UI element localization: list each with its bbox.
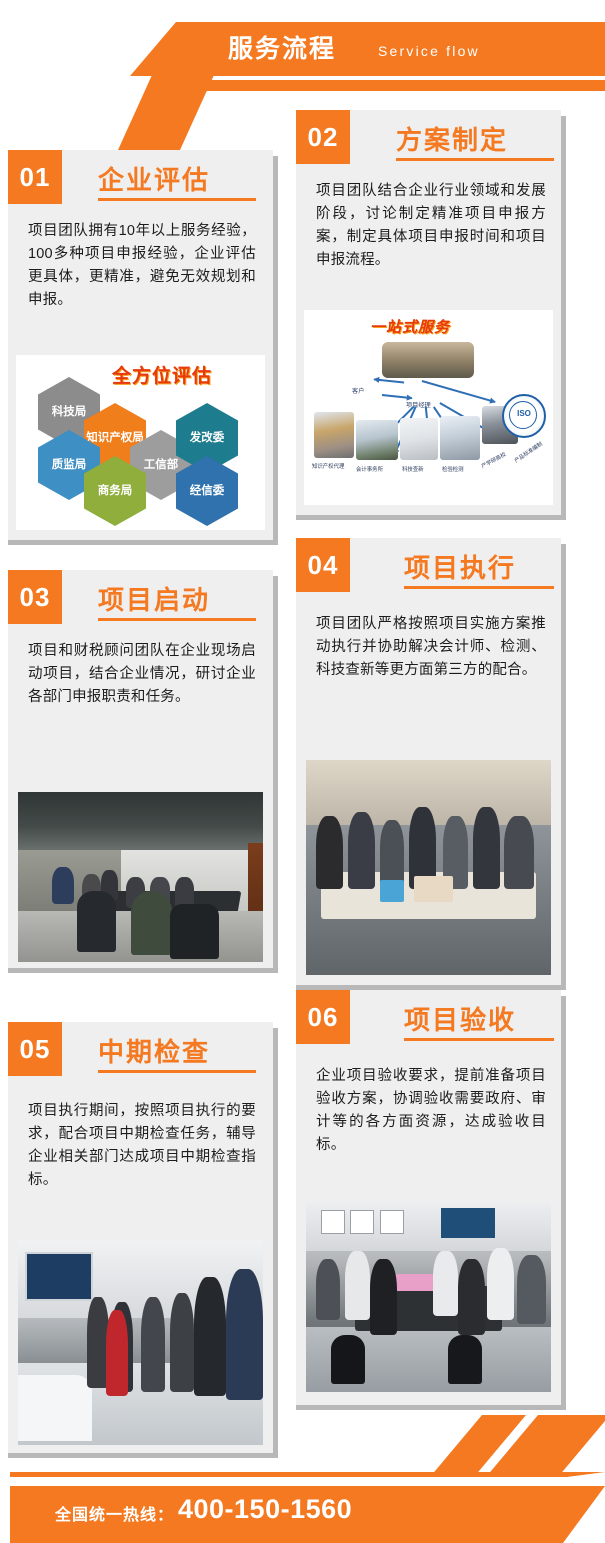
card-06-title-rule — [404, 1038, 554, 1041]
card-04-body: 项目团队严格按照项目实施方案推动执行并协助解决会计师、检测、科技查新等更方面第三… — [316, 613, 546, 682]
photo-frame — [380, 1210, 404, 1235]
photo-person — [345, 1251, 370, 1319]
card-01-title: 企业评估 — [98, 160, 210, 197]
onestop-title: 一站式服务 — [370, 316, 450, 337]
hex-node-label: 商务局 — [98, 485, 133, 498]
card-06-badge: 06 — [296, 990, 350, 1044]
photo-person — [226, 1269, 263, 1400]
photo-projector-screen — [441, 1208, 495, 1238]
photo-documents — [414, 876, 453, 902]
photo-person — [170, 1293, 195, 1391]
photo-chair — [448, 1335, 482, 1384]
onestop-node-2-image — [356, 420, 398, 460]
card-06-title: 项目验收 — [404, 1000, 516, 1037]
card-02-onestop-diagram: 一站式服务 客户 项目经理 ISO 知识产权代理 会计事务所 科技查新 检验检测… — [304, 310, 553, 505]
photo-display-screen — [25, 1252, 93, 1301]
onestop-node-label-3: 科技查新 — [402, 465, 424, 473]
photo-person — [52, 867, 74, 904]
card-03-badge: 03 — [8, 570, 62, 624]
photo-person — [487, 1248, 514, 1320]
onestop-arrow-1 — [374, 379, 404, 384]
page-footer: 全国统一热线： 400-150-1560 — [0, 1428, 605, 1538]
photo-person — [458, 1259, 485, 1335]
onestop-node-label-2: 会计事务所 — [356, 465, 383, 473]
card-01-title-rule — [98, 198, 256, 201]
card-06-body: 企业项目验收要求，提前准备项目验收方案，协调验收需要政府、审计等的各方面资源，达… — [316, 1065, 546, 1157]
photo-person — [504, 816, 533, 889]
hex-node-label: 发改委 — [190, 432, 225, 445]
card-02[interactable]: 02 方案制定 项目团队结合企业行业领域和发展阶段，讨论制定精准项目申报方案，制… — [296, 110, 561, 515]
card-04-photo — [306, 760, 551, 975]
onestop-label-customer: 客户 — [352, 386, 364, 395]
photo-person — [175, 877, 195, 908]
hex-node-label: 质监局 — [52, 459, 87, 472]
card-05[interactable]: 05 中期检查 项目执行期间，按照项目执行的要求，配合项目中期检查任务，辅导企业… — [8, 1022, 273, 1453]
photo-person — [348, 812, 375, 889]
onestop-iso-seal: ISO — [502, 394, 546, 438]
card-06[interactable]: 06 项目验收 企业项目验收要求，提前准备项目验收方案，协调验收需要政府、审计等… — [296, 990, 561, 1405]
card-05-title: 中期检查 — [98, 1032, 210, 1069]
onestop-arrow-3 — [422, 380, 495, 402]
photo-person-foreground — [131, 891, 173, 956]
card-04-badge: 04 — [296, 538, 350, 592]
hotline-label: 全国统一热线： — [55, 1501, 174, 1525]
card-01[interactable]: 01 企业评估 项目团队拥有10年以上服务经验，100多种项目申报经验，企业评估… — [8, 150, 273, 540]
card-04-title: 项目执行 — [404, 548, 516, 585]
hex-node-label: 知识产权局 — [86, 432, 144, 445]
card-05-body: 项目执行期间，按照项目执行的要求，配合项目中期检查任务，辅导企业相关部门达成项目… — [28, 1100, 256, 1192]
photo-chair — [170, 904, 219, 958]
photo-person — [316, 1259, 341, 1320]
onestop-hub-photo — [382, 342, 474, 378]
photo-person — [517, 1255, 546, 1323]
photo-person — [370, 1259, 397, 1335]
photo-frame — [350, 1210, 374, 1235]
card-04[interactable]: 04 项目执行 项目团队严格按照项目实施方案推动执行并协助解决会计师、检测、科技… — [296, 538, 561, 985]
card-02-title: 方案制定 — [396, 120, 508, 157]
onestop-arrow-2 — [382, 394, 412, 399]
card-03-title: 项目启动 — [98, 580, 210, 617]
onestop-node-3-image — [400, 418, 438, 460]
iso-seal-text: ISO — [504, 409, 544, 418]
photo-person — [194, 1277, 226, 1396]
onestop-label-manager: 项目经理 — [406, 400, 431, 409]
hotline-phone[interactable]: 400-150-1560 — [178, 1494, 352, 1525]
photo-chair — [331, 1335, 365, 1384]
onestop-node-label-6: 产品标准编制 — [513, 440, 544, 465]
photo-person-red-coat — [106, 1310, 128, 1396]
card-05-photo — [18, 1240, 263, 1445]
photo-frame — [321, 1210, 345, 1235]
card-04-title-rule — [404, 586, 554, 589]
card-03-title-rule — [98, 618, 256, 621]
photo-bottle — [380, 880, 405, 902]
onestop-node-label-1: 知识产权代理 — [312, 462, 344, 470]
photo-person — [473, 807, 500, 889]
photo-person — [433, 1251, 458, 1316]
hex-node-label: 经信委 — [190, 485, 225, 498]
card-03-body: 项目和财税顾问团队在企业现场启动项目，结合企业情况，研讨企业各部门申报职责和任务… — [28, 640, 256, 709]
card-01-badge: 01 — [8, 150, 62, 204]
header-banner — [130, 22, 605, 76]
photo-ceiling — [18, 792, 263, 850]
page-subtitle: Service flow — [378, 38, 480, 64]
card-05-title-rule — [98, 1070, 256, 1073]
card-05-badge: 05 — [8, 1022, 62, 1076]
footer-stripe — [10, 1472, 605, 1477]
onestop-node-4-image — [440, 416, 480, 460]
photo-person — [316, 816, 343, 889]
card-01-hex-diagram: 全方位评估 科技局 知识产权局 质监局 工信部 商务局 发改委 经信委 — [16, 355, 265, 530]
hex-node-label: 科技局 — [52, 406, 87, 419]
hex-node-label: 工信部 — [144, 459, 179, 472]
card-03[interactable]: 03 项目启动 项目和财税顾问团队在企业现场启动项目，结合企业情况，研讨企业各部… — [8, 570, 273, 968]
onestop-node-label-5: 产学研高校 — [480, 450, 508, 470]
card-03-photo — [18, 792, 263, 962]
card-01-body: 项目团队拥有10年以上服务经验，100多种项目申报经验，企业评估更具体，更精准，… — [28, 220, 256, 312]
hex-diagram-title: 全方位评估 — [112, 361, 212, 388]
card-02-badge: 02 — [296, 110, 350, 164]
photo-person — [380, 820, 405, 889]
onestop-node-label-4: 检验检测 — [442, 465, 464, 473]
page-title: 服务流程 — [228, 30, 336, 68]
onestop-node-1-image — [314, 412, 354, 458]
photo-chair — [77, 891, 116, 952]
card-02-body: 项目团队结合企业行业领域和发展阶段，讨论制定精准项目申报方案，制定具体项目申报时… — [316, 180, 546, 272]
card-06-photo — [306, 1202, 551, 1392]
photo-person — [141, 1297, 166, 1391]
card-02-title-rule — [396, 158, 554, 161]
